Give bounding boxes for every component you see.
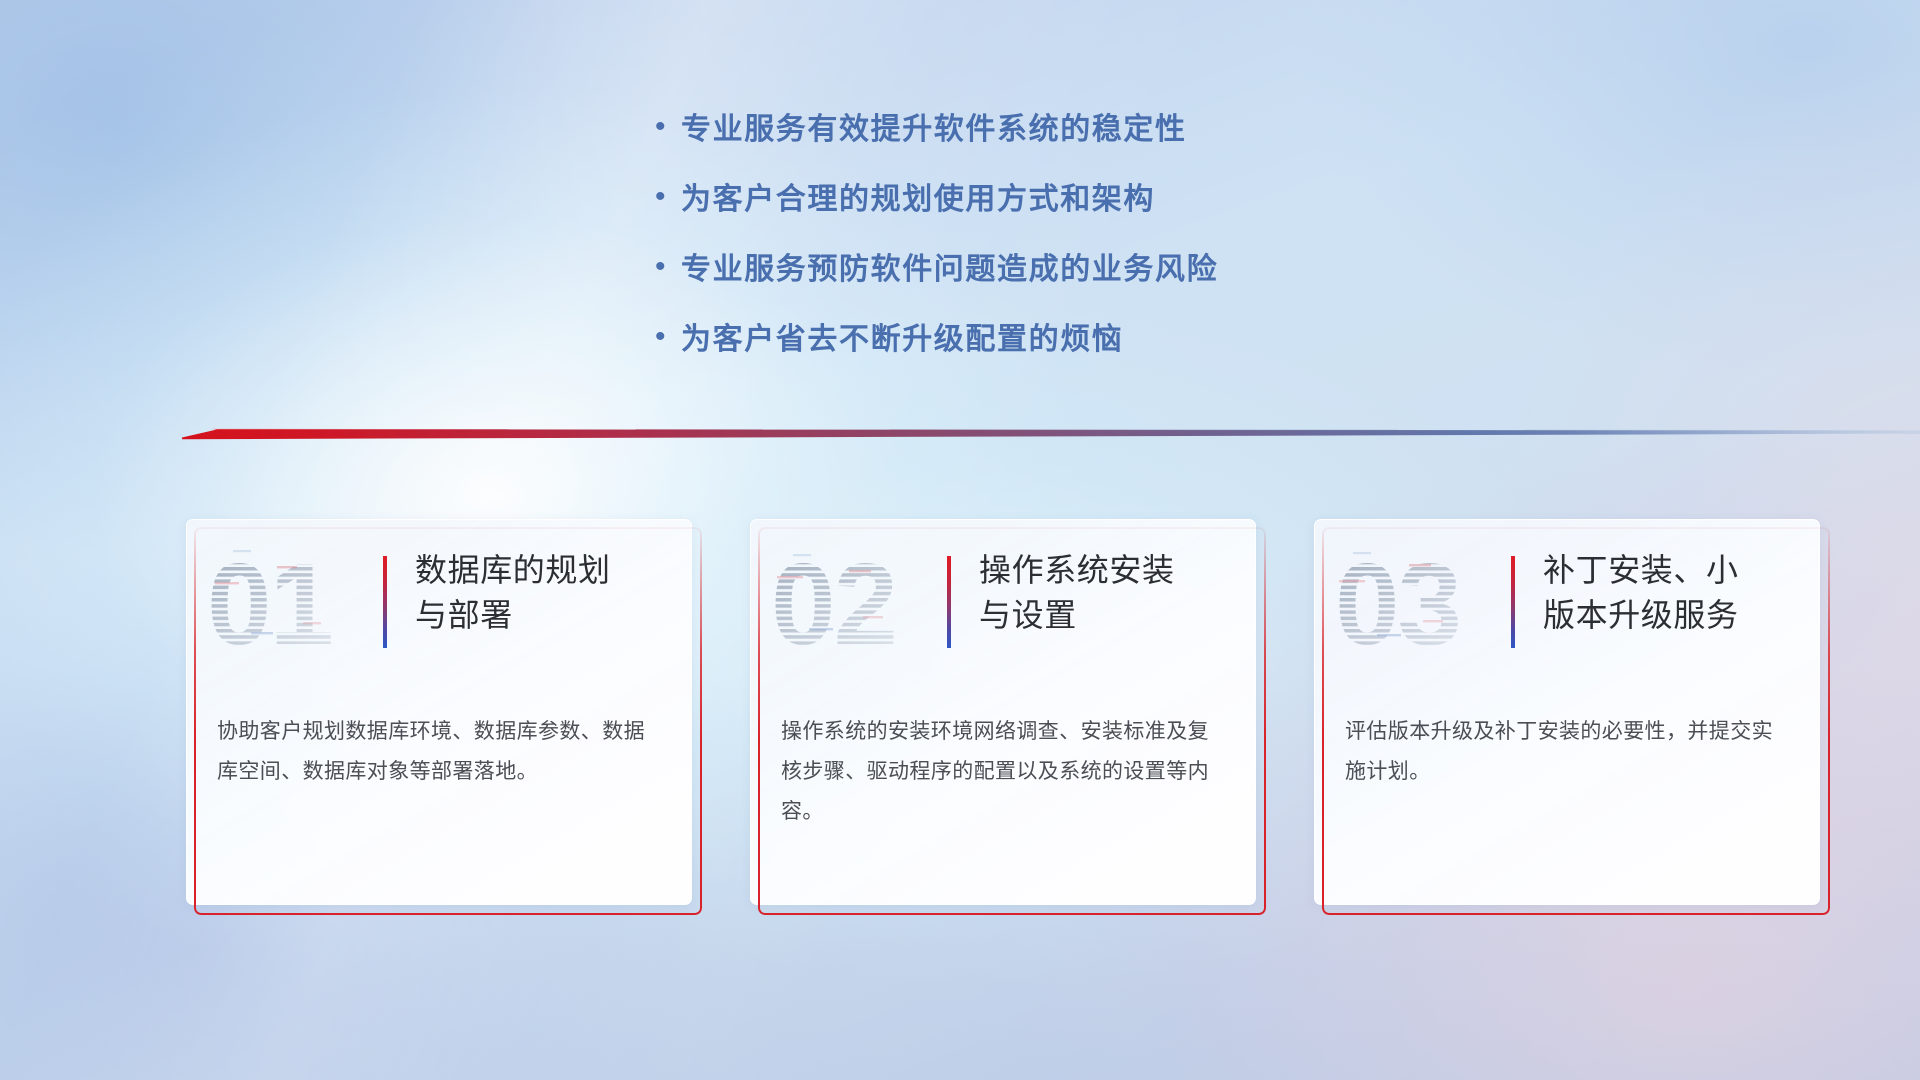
- card-body-text: 评估版本升级及补丁安装的必要性，并提交实施计划。: [1345, 712, 1791, 792]
- slide-canvas: • 专业服务有效提升软件系统的稳定性 • 为客户合理的规划使用方式和架构 • 专…: [0, 0, 1920, 1080]
- card-title-line-2: 与部署: [415, 593, 677, 638]
- card-title-line-1: 操作系统安装: [979, 548, 1241, 593]
- card-row: 01 数据库的规划 与部署 协助客户规划数据库环: [186, 519, 1822, 907]
- bullet-item: • 为客户合理的规划使用方式和架构: [655, 180, 1555, 219]
- bullet-item: • 专业服务有效提升软件系统的稳定性: [655, 110, 1555, 149]
- card-surface: 02 操作系统安装 与设置 操作系统的安装环境网络调查、安装标准及复核步骤: [750, 519, 1256, 905]
- card-header: 01 数据库的规划 与部署: [187, 520, 691, 680]
- bullet-text: 专业服务有效提升软件系统的稳定性: [681, 110, 1187, 149]
- card-header: 03 补丁安装、小 版本升级服务: [1315, 520, 1819, 680]
- card-accent-bar: [1511, 556, 1515, 648]
- card-body-text: 协助客户规划数据库环境、数据库参数、数据库空间、数据库对象等部署落地。: [217, 712, 663, 792]
- card-title: 补丁安装、小 版本升级服务: [1543, 548, 1805, 638]
- bullet-dot-icon: •: [655, 322, 681, 352]
- card-body-text: 操作系统的安装环境网络调查、安装标准及复核步骤、驱动程序的配置以及系统的设置等内…: [781, 712, 1227, 832]
- svg-text:01: 01: [207, 539, 332, 668]
- bullet-item: • 为客户省去不断升级配置的烦恼: [655, 320, 1555, 359]
- card-number-watermark: 01: [205, 536, 365, 668]
- card-title-line-1: 补丁安装、小: [1543, 548, 1805, 593]
- card-accent-bar: [383, 556, 387, 648]
- card-title-line-2: 版本升级服务: [1543, 593, 1805, 638]
- bullet-text: 为客户省去不断升级配置的烦恼: [681, 320, 1123, 359]
- bullet-text: 为客户合理的规划使用方式和架构: [681, 180, 1155, 219]
- bullet-dot-icon: •: [655, 252, 681, 282]
- card-number-watermark: 02: [769, 536, 929, 668]
- svg-text:02: 02: [771, 539, 896, 668]
- bullet-dot-icon: •: [655, 182, 681, 212]
- feature-card[interactable]: 02 操作系统安装 与设置 操作系统的安装环境网络调查、安装标准及复核步骤: [750, 519, 1258, 907]
- svg-text:03: 03: [1335, 539, 1460, 668]
- bullet-dot-icon: •: [655, 112, 681, 142]
- card-surface: 03 补丁安装、小 版本升级服务 评估版本升级及补丁安装的必要性，并提交实: [1314, 519, 1820, 905]
- section-divider: [182, 424, 1920, 440]
- card-title: 数据库的规划 与部署: [415, 548, 677, 638]
- bullet-list: • 专业服务有效提升软件系统的稳定性 • 为客户合理的规划使用方式和架构 • 专…: [655, 110, 1555, 390]
- card-number-watermark: 03: [1333, 536, 1493, 668]
- feature-card[interactable]: 01 数据库的规划 与部署 协助客户规划数据库环: [186, 519, 694, 907]
- card-title-line-1: 数据库的规划: [415, 548, 677, 593]
- card-header: 02 操作系统安装 与设置: [751, 520, 1255, 680]
- feature-card[interactable]: 03 补丁安装、小 版本升级服务 评估版本升级及补丁安装的必要性，并提交实: [1314, 519, 1822, 907]
- card-surface: 01 数据库的规划 与部署 协助客户规划数据库环: [186, 519, 692, 905]
- bullet-item: • 专业服务预防软件问题造成的业务风险: [655, 250, 1555, 289]
- bullet-text: 专业服务预防软件问题造成的业务风险: [681, 250, 1218, 289]
- card-title: 操作系统安装 与设置: [979, 548, 1241, 638]
- card-accent-bar: [947, 556, 951, 648]
- card-title-line-2: 与设置: [979, 593, 1241, 638]
